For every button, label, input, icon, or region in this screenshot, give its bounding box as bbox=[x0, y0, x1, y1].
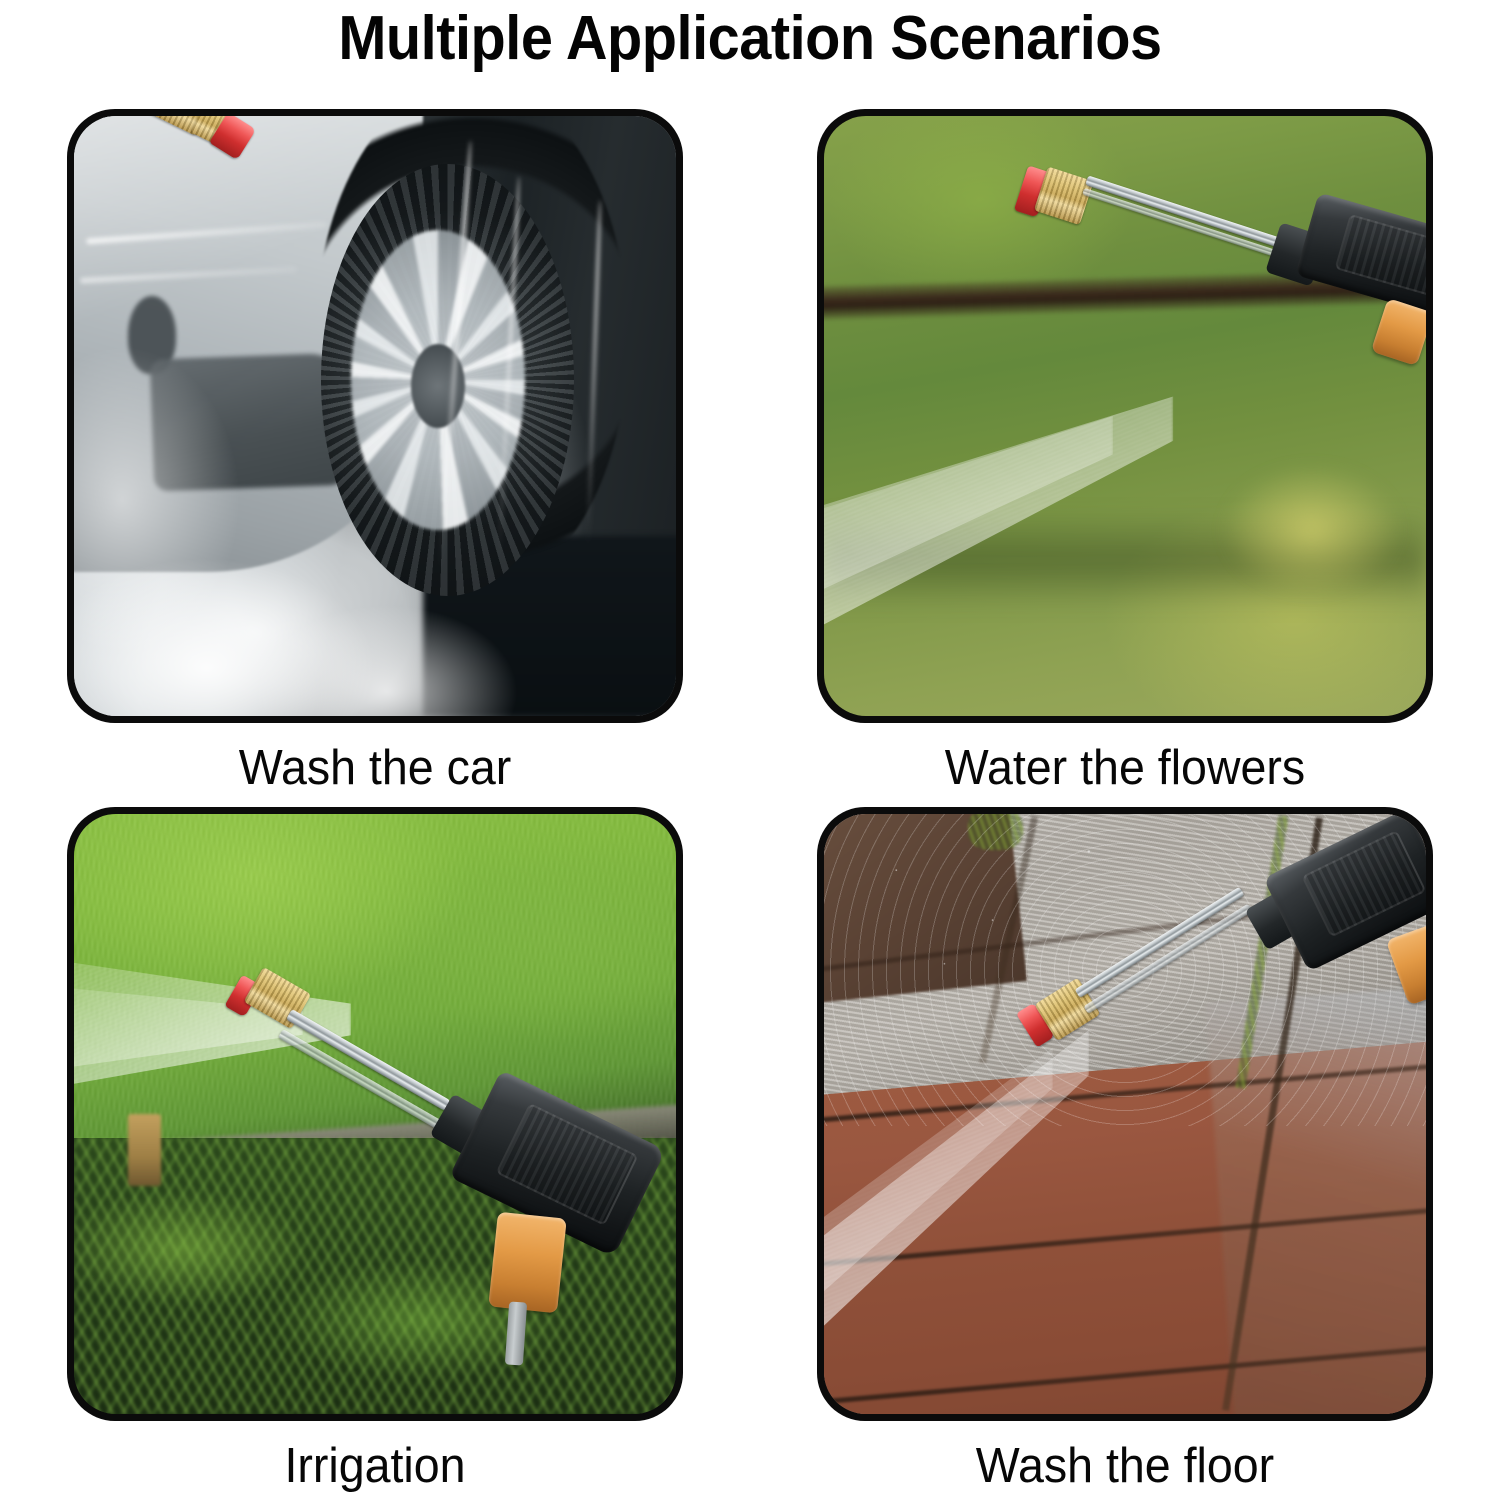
photo-frame-irrigation bbox=[67, 807, 683, 1421]
lance-wand bbox=[1074, 887, 1244, 998]
hose-connector bbox=[1371, 298, 1426, 366]
scenario-caption-wash-the-floor: Wash the floor bbox=[832, 1437, 1417, 1495]
lance-wand bbox=[1084, 904, 1253, 1014]
photo-wash-the-floor bbox=[824, 814, 1426, 1414]
scenario-card-irrigation: Irrigation bbox=[67, 807, 683, 1495]
scenario-card-water-the-flowers: Water the flowers bbox=[817, 109, 1433, 797]
scenario-caption-water-the-flowers: Water the flowers bbox=[832, 739, 1417, 797]
photo-frame-wash-the-car bbox=[67, 109, 683, 723]
lance-wand bbox=[286, 1009, 450, 1111]
scene-lawn bbox=[824, 116, 1426, 716]
lance-wand bbox=[1086, 175, 1295, 251]
scene-car-wash bbox=[74, 116, 676, 716]
photo-water-the-flowers bbox=[824, 116, 1426, 716]
photo-irrigation bbox=[74, 814, 676, 1414]
pressure-washer-gun-irrigation bbox=[218, 946, 676, 1342]
photo-frame-wash-the-floor bbox=[817, 807, 1433, 1421]
scenario-card-wash-the-car: Wash the car bbox=[67, 109, 683, 797]
scenario-card-wash-the-floor: Wash the floor bbox=[817, 807, 1433, 1495]
scenario-caption-wash-the-car: Wash the car bbox=[82, 739, 667, 797]
lance-wand bbox=[1083, 188, 1291, 262]
hose-connector bbox=[1386, 924, 1426, 1006]
scene-garden-bed bbox=[74, 814, 676, 1414]
pressure-washer-gun-floor bbox=[1017, 838, 1426, 1126]
hose-connector bbox=[488, 1212, 566, 1314]
scenario-grid: Wash the car bbox=[0, 0, 1500, 1500]
lance-wand bbox=[278, 1029, 441, 1129]
background-sunlit-patch bbox=[1221, 464, 1402, 596]
photo-frame-water-the-flowers bbox=[817, 109, 1433, 723]
scene-brick-paving bbox=[824, 814, 1426, 1414]
scenario-caption-irrigation: Irrigation bbox=[82, 1437, 667, 1495]
wooden-stake bbox=[128, 1114, 161, 1186]
product-infographic: Multiple Application Scenarios bbox=[0, 0, 1500, 1500]
photo-wash-the-car bbox=[74, 116, 676, 716]
pressure-washer-gun-flowers bbox=[947, 116, 1426, 435]
gun-body bbox=[1296, 192, 1426, 320]
